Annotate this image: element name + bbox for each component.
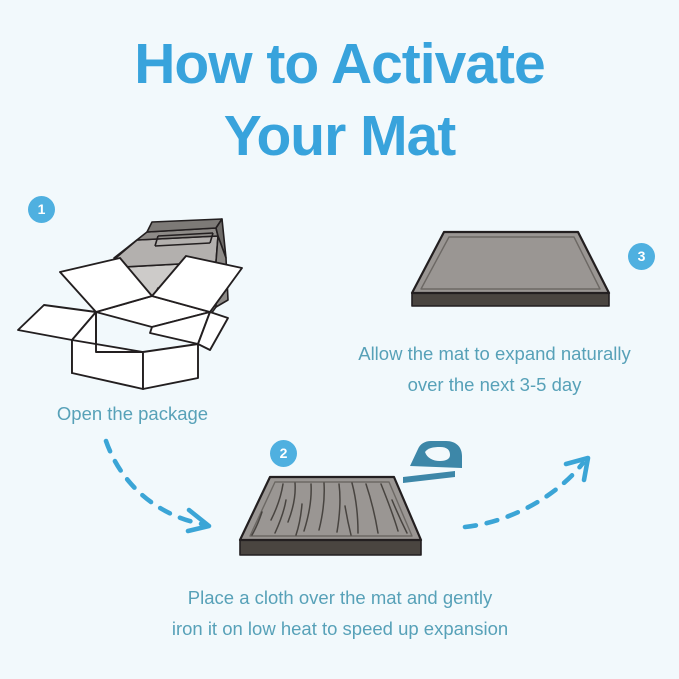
iron-icon [403, 441, 462, 483]
title-line-2: Your Mat [0, 100, 679, 172]
expanded-mat-illustration [412, 232, 609, 306]
step-3-caption: Allow the mat to expand naturally over t… [310, 338, 679, 400]
wrinkled-mat-illustration [240, 477, 421, 555]
step-3-badge: 3 [628, 243, 655, 270]
dashed-arrow-step2-to-step3 [465, 458, 588, 527]
folded-mat-in-box [104, 219, 228, 318]
step-1-caption: Open the package [0, 398, 265, 429]
how-to-activate-mat-infographic: How to Activate Your Mat [0, 0, 679, 679]
step-2-caption: Place a cloth over the mat and gently ir… [95, 582, 585, 644]
open-box-illustration [18, 219, 242, 389]
step-2-badge: 2 [270, 440, 297, 467]
page-title: How to Activate Your Mat [0, 28, 679, 172]
step-1-badge: 1 [28, 196, 55, 223]
dashed-arrow-step1-to-step2 [106, 441, 209, 531]
title-line-1: How to Activate [0, 28, 679, 100]
